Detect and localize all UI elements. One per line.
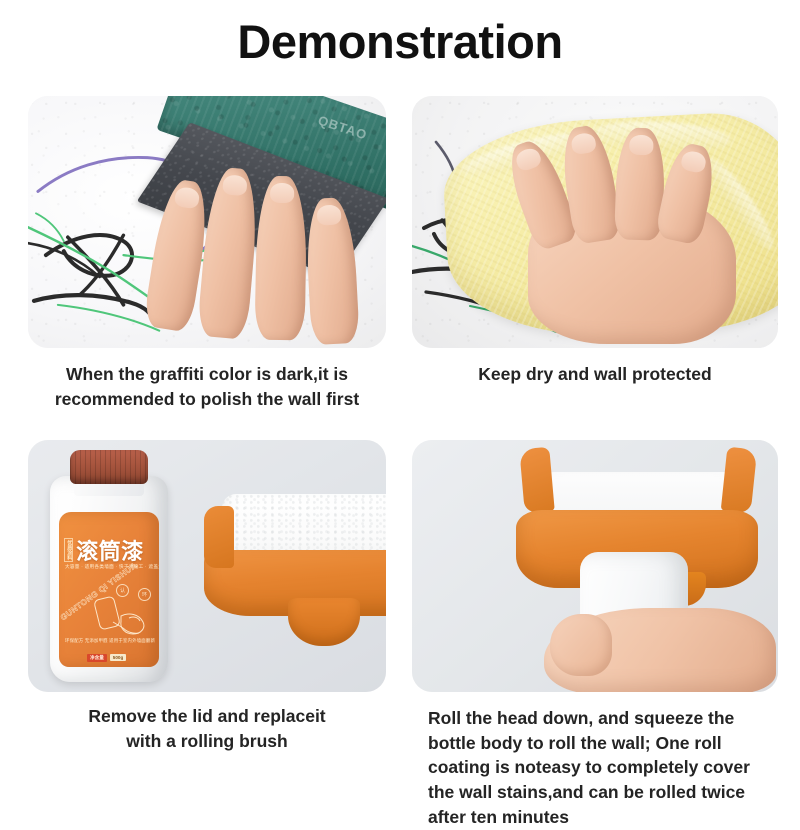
paint-bottle: 优质涂料 滚筒漆 大容量 · 适用各类墙面 · 快干易施工 · 遮盖力强 GUN… [50,450,168,682]
fingernail [514,146,543,173]
roller-arm-right [721,446,758,513]
label-subtitle: 大容量 · 适用各类墙面 · 快干易施工 · 遮盖力强 [65,564,159,570]
label-badge-vertical: 优质涂料 [64,538,73,562]
fingernail [570,132,597,156]
caption-line: Roll the head down, and squeeze the [428,706,778,731]
step-3: 优质涂料 滚筒漆 大容量 · 适用各类墙面 · 快干易施工 · 遮盖力强 GUN… [0,440,400,830]
caption-line: with a rolling brush [28,729,386,754]
step-1: QBTAO When the graffiti color is dark,it… [0,96,400,412]
finger-ring [255,176,308,341]
roller-head [204,494,386,672]
step-2-caption: Keep dry and wall protected [412,348,778,387]
label-line-art-hand-roller [93,588,155,644]
photo-bottle-and-roller-head: 优质涂料 滚筒漆 大容量 · 适用各类墙面 · 快干易施工 · 遮盖力强 GUN… [28,440,386,692]
hand-squeezing-bottle [544,590,776,692]
step-4-caption: Roll the head down, and squeeze the bott… [412,692,778,830]
label-footer-text: 环保配方 无添加甲醛 适用于室内外墙面翻新 [65,638,155,645]
roller-arm-left [204,506,234,568]
finger-middle [197,166,262,340]
caption-line: Keep dry and wall protected [412,362,778,387]
grid-row-top: QBTAO When the graffiti color is dark,it… [0,96,800,412]
fingernail [629,135,654,156]
fingernail [270,183,294,203]
hand-wiping [504,130,754,344]
finger-little [304,197,360,345]
page-title: Demonstration [0,0,800,68]
thumb [550,614,612,676]
caption-line: the wall stains,and can be rolled twice [428,780,778,805]
product-label: 优质涂料 滚筒漆 大容量 · 适用各类墙面 · 快干易施工 · 遮盖力强 GUN… [59,512,159,667]
caption-line: bottle body to roll the wall; One roll [428,731,778,756]
fingernail [174,186,201,210]
step-1-caption: When the graffiti color is dark,it is re… [28,348,386,412]
photo-rolling-the-wall [412,440,778,692]
demonstration-grid: QBTAO When the graffiti color is dark,it… [0,96,800,830]
caption-line: Remove the lid and replaceit [28,704,386,729]
fingernail [680,149,708,174]
net-weight-label: 净含量 [87,654,107,662]
fingernail [317,204,342,225]
caption-line: after ten minutes [428,805,778,830]
photo-wiping-cloth [412,96,778,348]
roller-arm-left [519,447,554,513]
roller-stem-connector [288,598,360,646]
label-weight-badges: 净含量 500g [87,654,126,662]
caption-line: When the graffiti color is dark,it is [28,362,386,387]
caption-line: recommended to polish the wall first [28,387,386,412]
label-heading: 优质涂料 滚筒漆 [64,534,159,566]
net-weight-value: 500g [110,654,126,661]
step-3-caption: Remove the lid and replaceit with a roll… [28,692,386,754]
hand-holding-block [150,146,386,348]
step-4: Roll the head down, and squeeze the bott… [400,440,800,830]
caption-line: coating is noteasy to completely cover [428,755,778,780]
photo-sanding-graffiti-wall: QBTAO [28,96,386,348]
step-2: Keep dry and wall protected [400,96,800,412]
fingernail [222,174,248,196]
grid-row-bottom: 优质涂料 滚筒漆 大容量 · 适用各类墙面 · 快干易施工 · 遮盖力强 GUN… [0,440,800,830]
bottle-cap [70,450,148,484]
